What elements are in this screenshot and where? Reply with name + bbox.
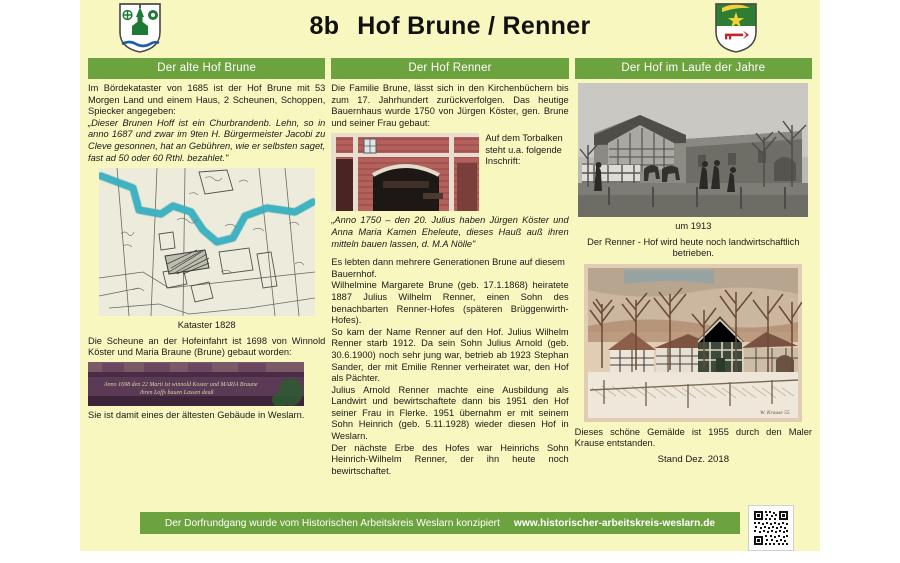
section-heading-1: Der alte Hof Brune xyxy=(88,58,325,79)
paragraph-2-1: Die Familie Brune, lässt sich in den Kir… xyxy=(331,83,568,129)
paragraph-2-3: Wilhelmine Margarete Brune (geb. 17.1.18… xyxy=(331,280,568,326)
figure-bauernhaus-torbogen xyxy=(331,133,479,211)
svg-text:ihren Loffs bauen Lassen deuß: ihren Loffs bauen Lassen deuß xyxy=(140,389,213,396)
figure-torbalken-inschrift: Anno 1698 den 22 Marti ist winnold Koste… xyxy=(88,362,304,406)
stand-date: Stand Dez. 2018 xyxy=(575,454,812,465)
column-der-hof-im-laufe-der-jahre: Der Hof im Laufe der Jahre xyxy=(575,58,812,477)
figure-historic-photo-1913 xyxy=(578,83,808,217)
paragraph-2-2: Es lebten dann mehrere Generationen Brun… xyxy=(331,257,568,280)
poster-header: 8bHof Brune / Renner xyxy=(80,0,820,58)
quote-2-1: „Anno 1750 – den 20. Julius haben Jürgen… xyxy=(331,215,568,250)
paragraph-2-4: So kam der Name Renner auf den Hof. Juli… xyxy=(331,327,568,385)
qr-code-icon[interactable] xyxy=(748,505,794,551)
paragraph-3-1: Der Renner - Hof wird heute noch landwir… xyxy=(575,237,812,260)
paragraph-2-6: Der nächste Erbe des Hofes war Heinrichs… xyxy=(331,443,568,478)
coat-of-arms-bad-sassendorf-icon xyxy=(714,2,758,54)
column-der-hof-renner: Der Hof Renner Die Familie Brune, lässt … xyxy=(331,58,568,477)
paragraph-1-2: Die Scheune an der Hofeinfahrt ist 1698 … xyxy=(88,336,325,359)
footer-text: Der Dorfrundgang wurde vom Historischen … xyxy=(165,518,500,529)
page-title: 8bHof Brune / Renner xyxy=(80,12,820,41)
paragraph-1-1: Im Bördekataster von 1685 ist der Hof Br… xyxy=(88,83,325,118)
figure-gemaelde-1955: W. Krause 55 xyxy=(584,264,802,422)
page-number: 8b xyxy=(310,12,340,40)
quote-1-1: „Dieser Brunen Hoff ist ein Churbrandenb… xyxy=(88,118,325,164)
column-der-alte-hof-brune: Der alte Hof Brune Im Bördekataster von … xyxy=(88,58,325,477)
section-heading-2: Der Hof Renner xyxy=(331,58,568,79)
caption-gemaelde: Dieses schöne Gemälde ist 1955 durch den… xyxy=(575,427,812,450)
poster-page: 8bHof Brune / Renner Der alte Hof Brune … xyxy=(80,0,820,551)
paragraph-2-5: Julius Arnold Renner machte eine Ausbild… xyxy=(331,385,568,443)
footer-bar: Der Dorfrundgang wurde vom Historischen … xyxy=(140,512,740,534)
figure-kataster-1828 xyxy=(99,168,315,316)
caption-um-1913: um 1913 xyxy=(575,221,812,233)
section-heading-3: Der Hof im Laufe der Jahre xyxy=(575,58,812,79)
caption-kataster: Kataster 1828 xyxy=(88,320,325,332)
page-title-text: Hof Brune / Renner xyxy=(357,12,590,40)
side-note-inschrift: Auf dem Torbalken steht u.a. folgende In… xyxy=(485,133,568,167)
svg-text:Anno 1698 den 22 Marti ist w: Anno 1698 den 22 Marti ist winnold Koste… xyxy=(103,382,258,388)
footer-url-link[interactable]: www.historischer-arbeitskreis-weslarn.de xyxy=(514,518,715,529)
content-columns: Der alte Hof Brune Im Bördekataster von … xyxy=(80,58,820,477)
figure-gate-photo-row: Auf dem Torbalken steht u.a. folgende In… xyxy=(331,133,568,211)
paragraph-1-3: Sie ist damit eines der ältesten Gebäude… xyxy=(88,410,325,422)
svg-text:W. Krause 55: W. Krause 55 xyxy=(760,410,790,416)
